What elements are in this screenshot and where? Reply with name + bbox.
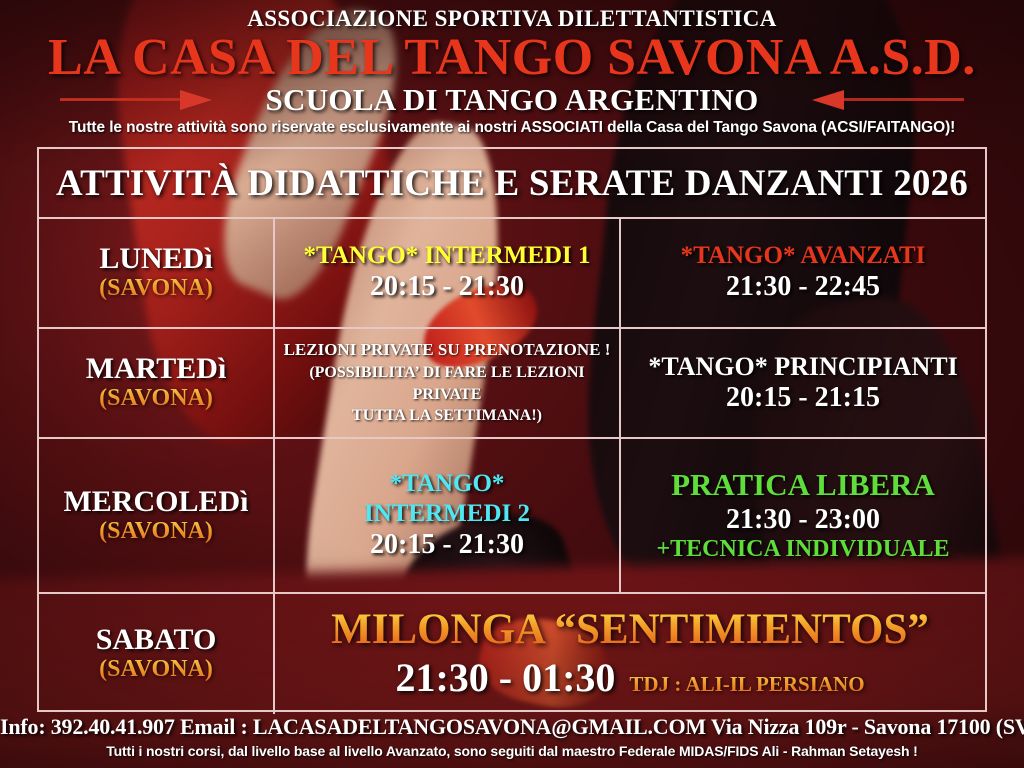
practice-time: 21:30 - 23:00	[726, 503, 880, 536]
course-name: *TANGO* AVANZATI	[681, 242, 926, 270]
schedule-title: ATTIVITÀ DIDATTICHE E SERATE DANZANTI 20…	[56, 162, 968, 205]
course-name-line-1: *TANGO*	[390, 469, 505, 499]
milonga-time: 21:30 - 01:30	[395, 654, 615, 701]
page-title: LA CASA DEL TANGO SAVONA A.S.D.	[0, 32, 1024, 84]
table-row: LUNEDì (SAVONA) *TANGO* INTERMEDI 1 20:1…	[39, 219, 985, 329]
day-name: MERCOLEDì	[63, 486, 248, 518]
course-name: *TANGO* PRINCIPIANTI	[648, 352, 957, 381]
day-name: LUNEDì	[99, 243, 212, 275]
wednesday-course-intermediate: *TANGO* INTERMEDI 2 20:15 - 21:30	[275, 439, 621, 592]
arrow-left-icon	[789, 88, 964, 112]
course-time: 21:30 - 22:45	[726, 270, 880, 303]
day-city: (SAVONA)	[99, 518, 213, 546]
subtitle-row: SCUOLA DI TANGO ARGENTINO	[0, 82, 1024, 118]
table-row: MERCOLEDì (SAVONA) *TANGO* INTERMEDI 2 2…	[39, 439, 985, 594]
day-cell-saturday: SABATO (SAVONA)	[39, 594, 275, 714]
members-notice: Tutte le nostre attività sono riservate …	[0, 119, 1024, 137]
table-row: MARTEDì (SAVONA) LEZIONI PRIVATE SU PREN…	[39, 329, 985, 439]
tuesday-course-beginners: *TANGO* PRINCIPIANTI 20:15 - 21:15	[621, 329, 985, 437]
day-city: (SAVONA)	[99, 275, 213, 303]
footer-teacher-note: Tutti i nostri corsi, dal livello base a…	[0, 743, 1024, 759]
milonga-dj: TDJ : ALI-IL PERSIANO	[629, 672, 864, 697]
tuesday-private-lessons-note: LEZIONI PRIVATE SU PRENOTAZIONE ! (POSSI…	[275, 329, 621, 437]
note-line-3: TUTTA LA SETTIMANA!)	[352, 405, 542, 427]
practice-extra: +TECNICA INDIVIDUALE	[656, 536, 949, 563]
footer-contact-info: Info: 392.40.41.907 Email : LACASADELTAN…	[0, 714, 1024, 740]
schedule-table-header: ATTIVITÀ DIDATTICHE E SERATE DANZANTI 20…	[39, 149, 985, 219]
course-time: 20:15 - 21:15	[726, 381, 880, 414]
table-row: SABATO (SAVONA) MILONGA “SENTIMIENTOS” 2…	[39, 594, 985, 714]
day-cell-monday: LUNEDì (SAVONA)	[39, 219, 275, 327]
saturday-milonga: MILONGA “SENTIMIENTOS” 21:30 - 01:30 TDJ…	[275, 594, 985, 714]
milonga-title: MILONGA “SENTIMIENTOS”	[331, 607, 929, 652]
course-time: 20:15 - 21:30	[370, 270, 524, 303]
day-name: MARTEDì	[86, 353, 227, 385]
monday-course-2: *TANGO* AVANZATI 21:30 - 22:45	[621, 219, 985, 327]
day-cell-wednesday: MERCOLEDì (SAVONA)	[39, 439, 275, 592]
day-cell-tuesday: MARTEDì (SAVONA)	[39, 329, 275, 437]
course-name-line-2: INTERMEDI 2	[364, 499, 530, 529]
note-line-2: (POSSIBILITA’ DI FARE LE LEZIONI PRIVATE	[281, 362, 613, 405]
note-title: LEZIONI PRIVATE SU PRENOTAZIONE !	[284, 339, 611, 362]
milonga-details: 21:30 - 01:30 TDJ : ALI-IL PERSIANO	[395, 654, 864, 701]
poster-content: ASSOCIAZIONE SPORTIVA DILETTANTISTICA LA…	[0, 0, 1024, 768]
course-time: 20:15 - 21:30	[370, 528, 524, 561]
day-name: SABATO	[96, 624, 217, 656]
day-city: (SAVONA)	[99, 656, 213, 684]
course-name: *TANGO* INTERMEDI 1	[303, 242, 590, 270]
monday-course-1: *TANGO* INTERMEDI 1 20:15 - 21:30	[275, 219, 621, 327]
wednesday-practice: PRATICA LIBERA 21:30 - 23:00 +TECNICA IN…	[621, 439, 985, 592]
schedule-table: ATTIVITÀ DIDATTICHE E SERATE DANZANTI 20…	[37, 147, 987, 712]
tango-school-poster: ASSOCIAZIONE SPORTIVA DILETTANTISTICA LA…	[0, 0, 1024, 768]
day-city: (SAVONA)	[99, 385, 213, 413]
practice-name: PRATICA LIBERA	[671, 468, 935, 503]
